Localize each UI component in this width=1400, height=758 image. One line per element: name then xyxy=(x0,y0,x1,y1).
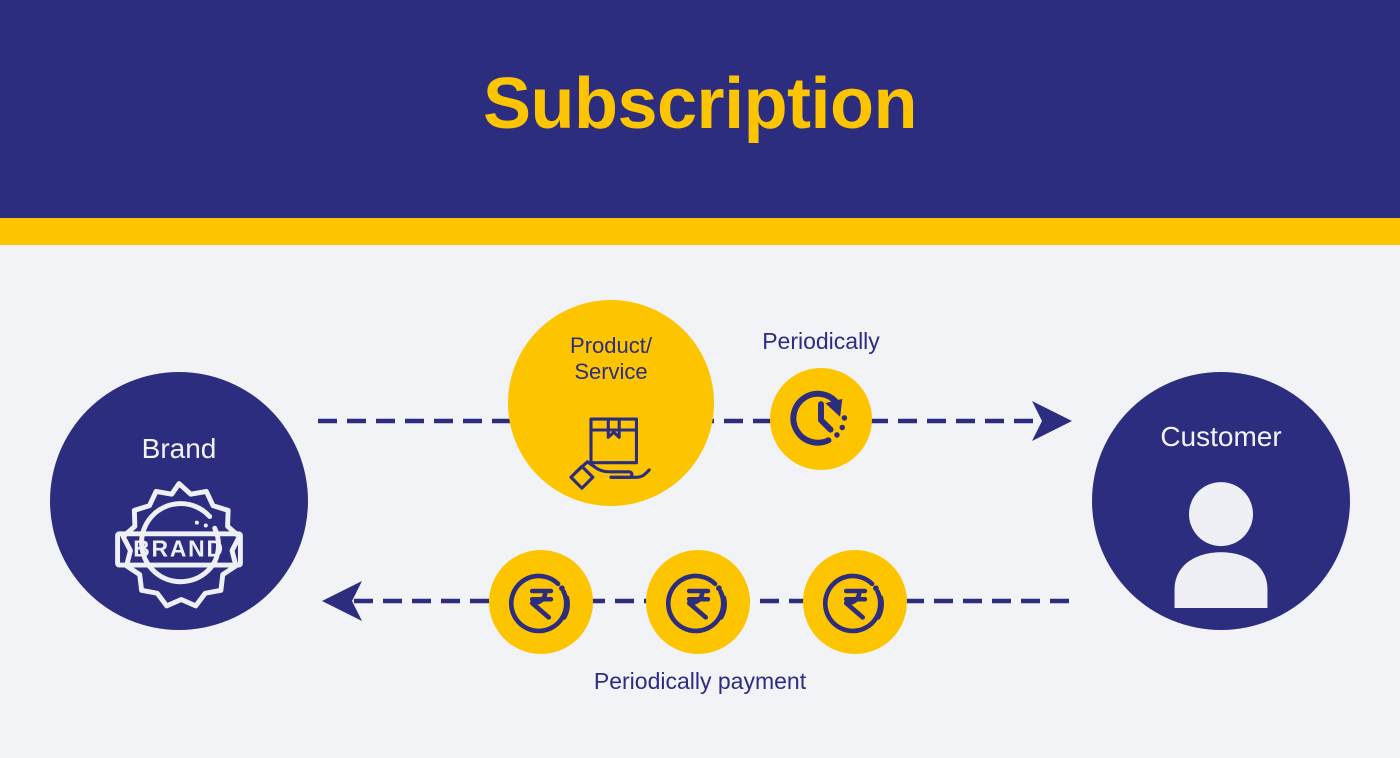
node-periodically[interactable] xyxy=(770,368,872,470)
rupee-coin-icon xyxy=(822,569,888,635)
coin-3[interactable] xyxy=(803,550,907,654)
brand-badge-icon: BRAND xyxy=(112,478,246,612)
coin-1[interactable] xyxy=(489,550,593,654)
rupee-coin-icon xyxy=(665,569,731,635)
clock-arrowhead-icon xyxy=(825,399,842,417)
periodically-payment-label: Periodically payment xyxy=(450,668,950,695)
clock-arrow-icon xyxy=(787,385,855,453)
node-product-service-label: Product/ Service xyxy=(508,333,714,385)
node-customer[interactable]: Customer xyxy=(1092,372,1350,630)
person-icon xyxy=(1169,480,1273,608)
arrowhead-left-icon xyxy=(322,581,362,621)
rupee-coin-icon xyxy=(508,569,574,635)
node-customer-label: Customer xyxy=(1092,420,1350,453)
brand-badge-text: BRAND xyxy=(133,536,225,562)
diagram-canvas: Subscription Brand xyxy=(0,0,1400,758)
node-brand[interactable]: Brand BRAND xyxy=(50,372,308,630)
periodically-label: Periodically xyxy=(716,328,926,355)
arrowhead-right-icon xyxy=(1032,401,1072,441)
node-brand-label: Brand xyxy=(50,432,308,465)
node-product-service[interactable]: Product/ Service xyxy=(508,300,714,506)
node-product-service-label-line2: Service xyxy=(508,359,714,385)
coin-sparkle-dot xyxy=(716,585,722,591)
header-accent-rule xyxy=(0,218,1400,245)
page-title: Subscription xyxy=(0,68,1400,140)
coin-sparkle-dot xyxy=(873,585,879,591)
coin-2[interactable] xyxy=(646,550,750,654)
hand-holding-box-icon xyxy=(565,410,657,490)
node-product-service-label-line1: Product/ xyxy=(508,333,714,359)
coin-sparkle-dot xyxy=(559,585,565,591)
